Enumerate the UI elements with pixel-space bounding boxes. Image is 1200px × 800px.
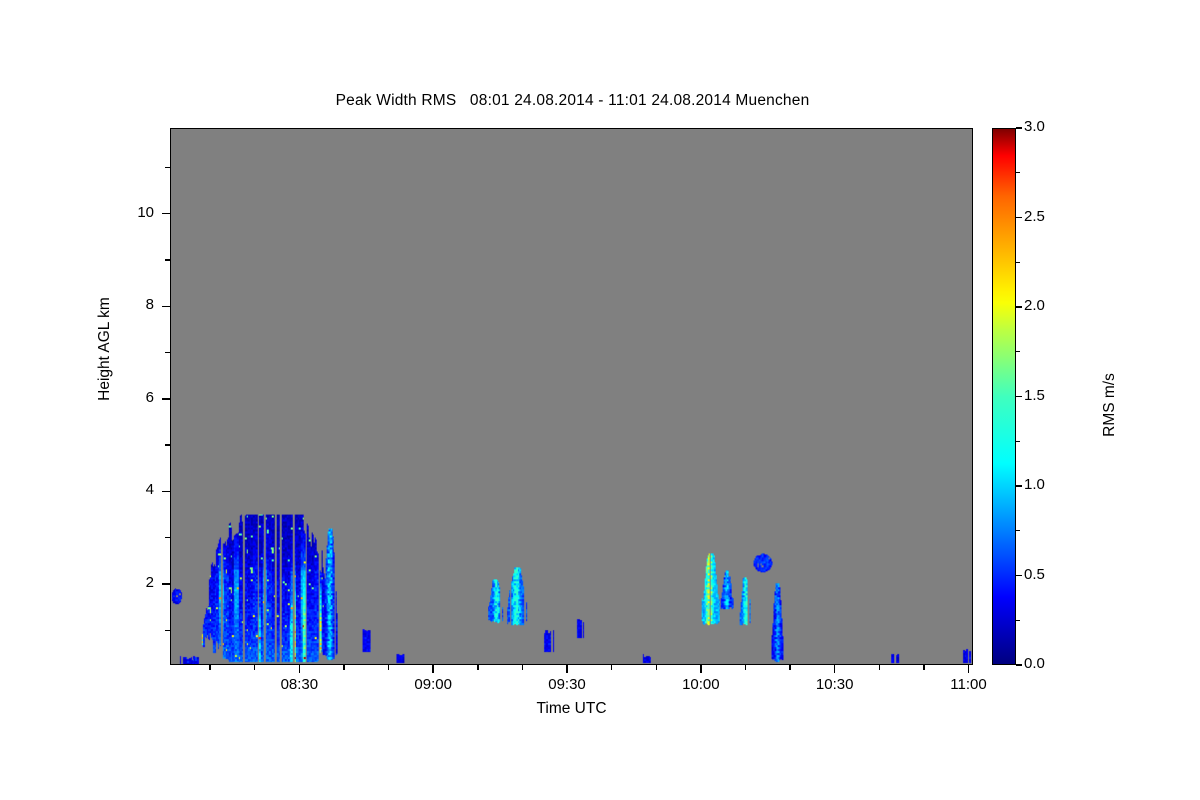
x-axis-label: Time UTC [170, 700, 973, 718]
y-tick-label: 8 [108, 296, 154, 313]
x-tick-minor [343, 665, 344, 670]
x-tick-label: 09:00 [388, 676, 478, 693]
colorbar-tick-label: 0.0 [1024, 655, 1045, 672]
x-tick-minor [745, 665, 746, 670]
colorbar-tick [1016, 217, 1022, 218]
x-tick-minor [254, 665, 255, 670]
x-tick-minor [923, 665, 924, 670]
y-tick-label: 4 [108, 481, 154, 498]
x-tick-label: 10:00 [656, 676, 746, 693]
x-tick-minor [789, 665, 790, 670]
x-tick-minor [522, 665, 523, 670]
x-tick-major [834, 665, 835, 673]
y-tick-minor [165, 630, 170, 631]
x-tick-minor [209, 665, 210, 670]
colorbar-tick-minor [1016, 262, 1020, 263]
y-tick-major [162, 213, 170, 214]
x-tick-minor [879, 665, 880, 670]
colorbar-tick-label: 3.0 [1024, 118, 1045, 135]
heatmap-image [171, 129, 972, 664]
x-tick-major [566, 665, 567, 673]
y-tick-minor [165, 167, 170, 168]
colorbar-tick-label: 2.0 [1024, 297, 1045, 314]
colorbar-tick [1016, 575, 1022, 576]
colorbar-tick [1016, 306, 1022, 307]
y-tick-label: 2 [108, 574, 154, 591]
y-tick-minor [165, 352, 170, 353]
x-tick-label: 09:30 [522, 676, 612, 693]
y-tick-minor [165, 259, 170, 260]
colorbar-tick-label: 1.5 [1024, 387, 1045, 404]
colorbar-tick-minor [1016, 172, 1020, 173]
x-tick-major [299, 665, 300, 673]
colorbar-tick [1016, 485, 1022, 486]
page-title: Peak Width RMS 08:01 24.08.2014 - 11:01 … [0, 92, 1145, 110]
y-tick-major [162, 398, 170, 399]
colorbar-tick-minor [1016, 620, 1020, 621]
y-tick-major [162, 306, 170, 307]
x-tick-minor [611, 665, 612, 670]
colorbar-tick [1016, 664, 1022, 665]
x-tick-major [700, 665, 701, 673]
y-tick-label: 10 [108, 204, 154, 221]
y-axis-label: Height AGL km [96, 239, 114, 459]
x-tick-minor [656, 665, 657, 670]
colorbar-tick-label: 2.5 [1024, 208, 1045, 225]
colorbar-label: RMS m/s [1101, 305, 1119, 505]
x-tick-major [432, 665, 433, 673]
colorbar-tick-label: 0.5 [1024, 566, 1045, 583]
y-tick-minor [165, 537, 170, 538]
plot-area[interactable] [170, 128, 973, 665]
y-tick-minor [165, 444, 170, 445]
colorbar-tick [1016, 396, 1022, 397]
x-tick-minor [477, 665, 478, 670]
colorbar-tick-minor [1016, 530, 1020, 531]
colorbar-tick-minor [1016, 441, 1020, 442]
colorbar-gradient [993, 129, 1015, 664]
colorbar-tick [1016, 127, 1022, 128]
x-tick-label: 10:30 [790, 676, 880, 693]
y-tick-major [162, 491, 170, 492]
colorbar-tick-minor [1016, 351, 1020, 352]
colorbar[interactable] [992, 128, 1016, 665]
y-tick-label: 6 [108, 389, 154, 406]
figure-canvas: Peak Width RMS 08:01 24.08.2014 - 11:01 … [0, 0, 1200, 800]
x-tick-minor [388, 665, 389, 670]
x-tick-label: 11:00 [924, 676, 1014, 693]
y-tick-major [162, 583, 170, 584]
x-tick-major [968, 665, 969, 673]
x-tick-label: 08:30 [254, 676, 344, 693]
colorbar-tick-label: 1.0 [1024, 476, 1045, 493]
